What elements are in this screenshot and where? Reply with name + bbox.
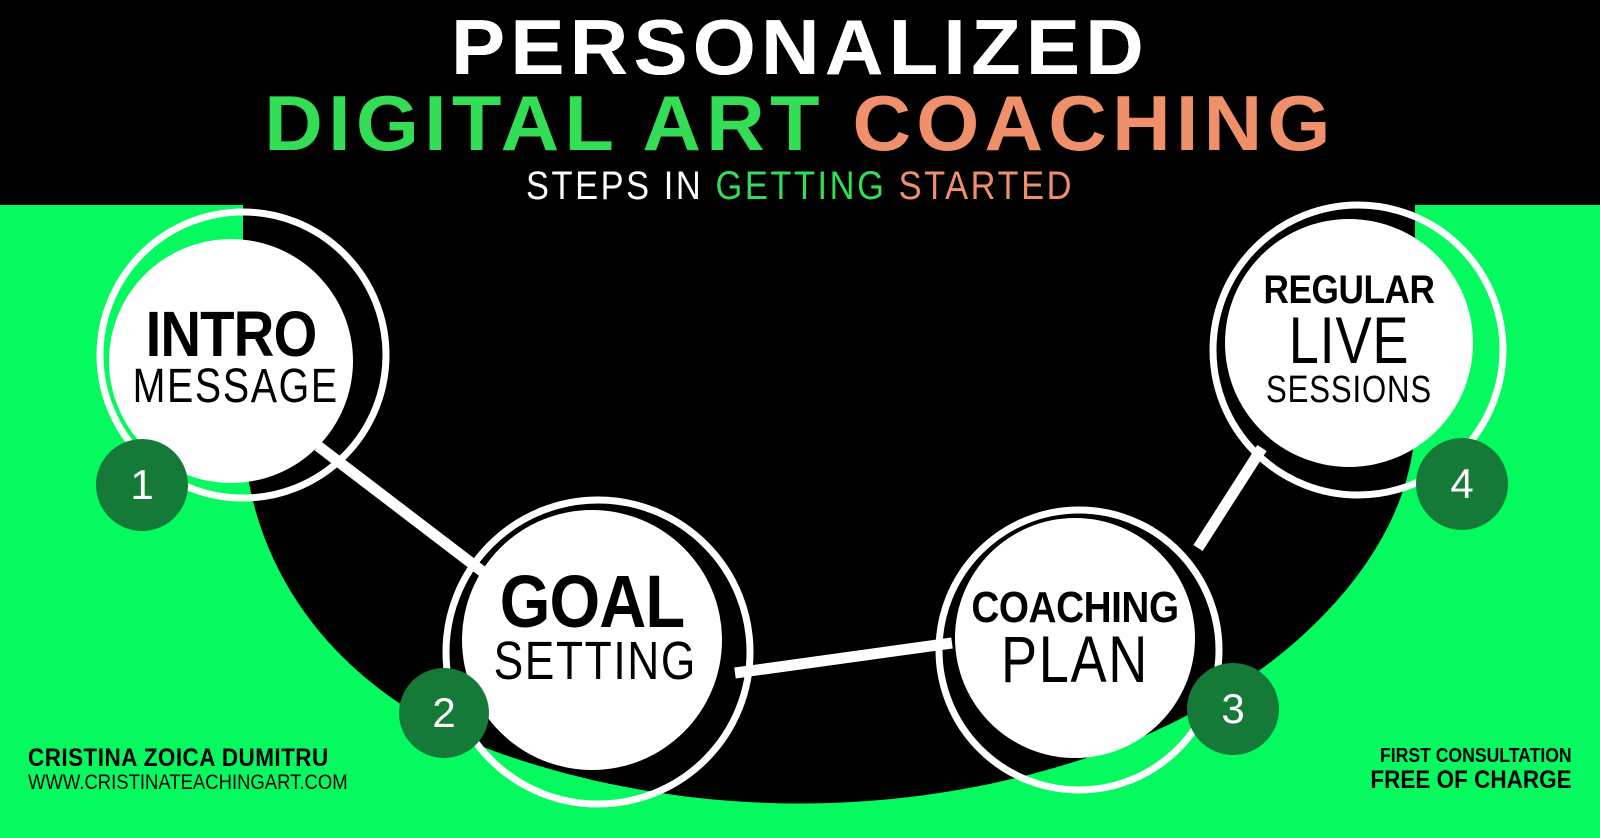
subtitle-part-steps-in: STEPS IN xyxy=(526,164,703,208)
step-2-number: 2 xyxy=(432,689,455,737)
step-2-number-badge[interactable]: 2 xyxy=(399,668,489,758)
step-3-number-badge[interactable]: 3 xyxy=(1187,663,1279,755)
step-4-number: 4 xyxy=(1450,460,1473,508)
page-title-line-1: PERSONALIZED xyxy=(0,8,1600,86)
page-title-line-2: DIGITAL ART COACHING xyxy=(0,84,1600,162)
header: PERSONALIZED DIGITAL ART COACHING STEPS … xyxy=(0,0,1600,205)
step-node-3[interactable] xyxy=(939,510,1219,790)
step-4-disc xyxy=(1225,219,1473,467)
step-1-number: 1 xyxy=(130,461,153,509)
step-3-number: 3 xyxy=(1221,685,1244,733)
page-title-digital-art: DIGITAL ART xyxy=(264,79,824,167)
offer-line-2: FREE OF CHARGE xyxy=(1371,767,1572,795)
footer-author-block: CRISTINA ZOICA DUMITRU WWW.CRISTINATEACH… xyxy=(28,745,391,794)
page-title-coaching: COACHING xyxy=(852,79,1335,167)
subtitle-part-getting: GETTING xyxy=(715,164,886,208)
author-name: CRISTINA ZOICA DUMITRU xyxy=(28,745,355,771)
step-3-disc xyxy=(955,518,1195,758)
step-1-number-badge[interactable]: 1 xyxy=(96,439,188,531)
subtitle-part-started: STARTED xyxy=(899,164,1074,208)
page-subtitle: STEPS IN GETTING STARTED xyxy=(112,166,1488,206)
step-2-disc xyxy=(462,510,722,770)
offer-line-1: FIRST CONSULTATION xyxy=(1375,745,1572,767)
poster-canvas: PERSONALIZED DIGITAL ART COACHING STEPS … xyxy=(0,0,1600,838)
step-4-number-badge[interactable]: 4 xyxy=(1416,438,1508,530)
author-website[interactable]: WWW.CRISTINATEACHINGART.COM xyxy=(28,771,348,794)
step-node-2[interactable] xyxy=(446,500,750,804)
footer-offer-block: FIRST CONSULTATION FREE OF CHARGE xyxy=(1348,745,1572,795)
